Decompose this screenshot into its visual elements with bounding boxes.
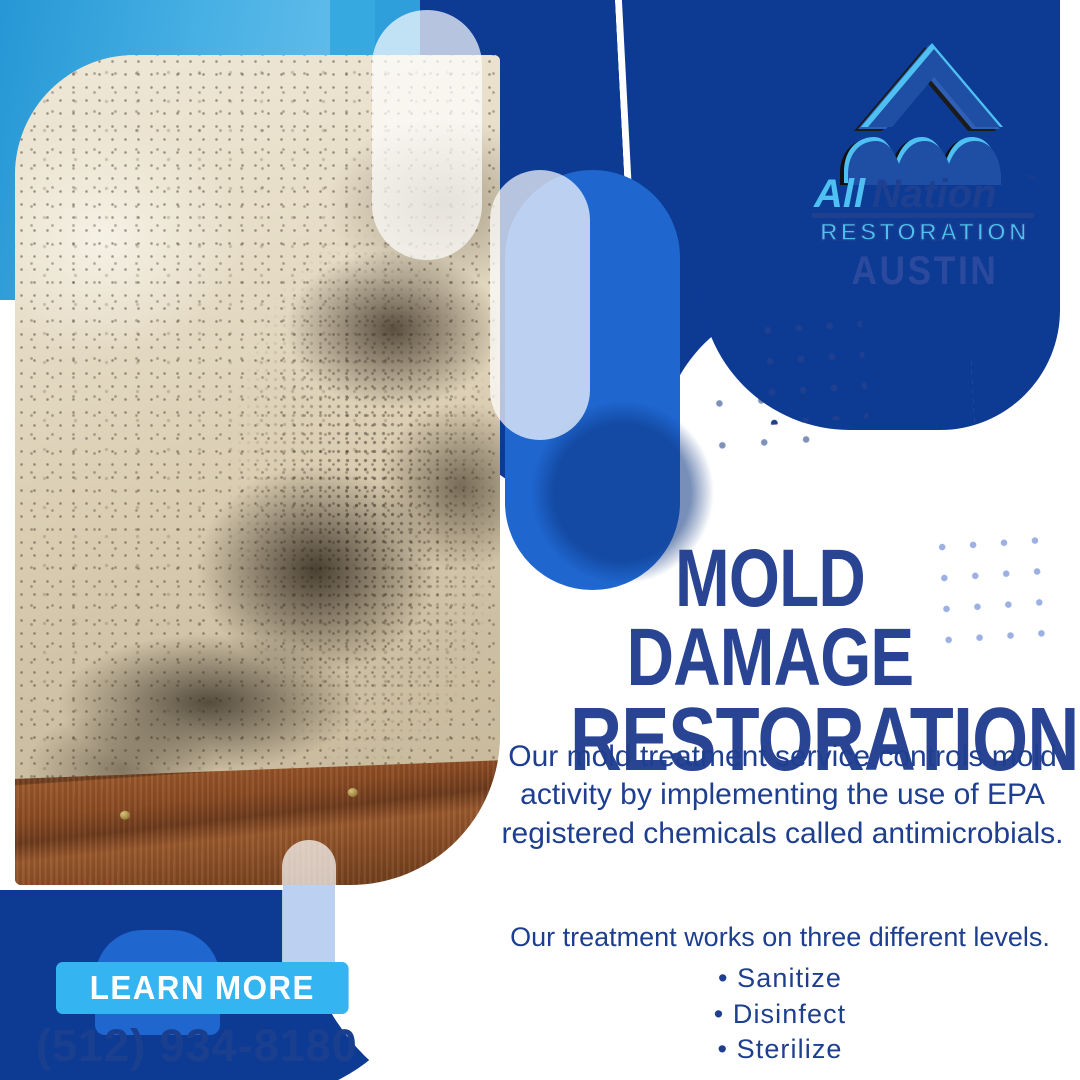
list-item: • Sanitize — [480, 961, 1080, 997]
poster-canvas: All Nation ™ RESTORATION AUSTIN MOLD DAM… — [0, 0, 1080, 1080]
translucent-pill-top — [372, 10, 482, 260]
brand-logo[interactable]: All Nation ™ RESTORATION AUSTIN — [800, 35, 1050, 294]
phone-number[interactable]: (512) 934-8180 — [36, 1020, 436, 1072]
headline-line-1: MOLD DAMAGE — [627, 533, 914, 703]
logo-all-text: All — [813, 172, 866, 215]
treatment-levels-block: Our treatment works on three different l… — [480, 920, 1080, 1068]
translucent-pill-middle — [490, 170, 590, 440]
logo-restoration-text: RESTORATION — [820, 219, 1030, 245]
logo-location-label: AUSTIN — [815, 249, 1035, 294]
wood-grain-texture — [15, 758, 500, 885]
body-paragraph: Our mold treatment service controls mold… — [500, 738, 1065, 853]
logo-nation-text: Nation — [872, 172, 996, 215]
wood-baseboard — [15, 758, 500, 885]
learn-more-button[interactable]: LEARN MORE — [56, 962, 349, 1014]
roof-chevron-and-waves-icon: All Nation ™ — [800, 35, 1050, 215]
treatment-levels-subhead: Our treatment works on three different l… — [480, 920, 1080, 955]
dot-grid-navy — [751, 308, 868, 425]
logo-restoration-bar: RESTORATION — [800, 211, 1050, 245]
list-item: • Sterilize — [480, 1032, 1080, 1068]
list-item: • Disinfect — [480, 997, 1080, 1033]
trademark-symbol: ™ — [1026, 174, 1037, 186]
treatment-levels-list: • Sanitize • Disinfect • Sterilize — [480, 961, 1080, 1068]
mold-speckle-dense — [199, 204, 500, 802]
